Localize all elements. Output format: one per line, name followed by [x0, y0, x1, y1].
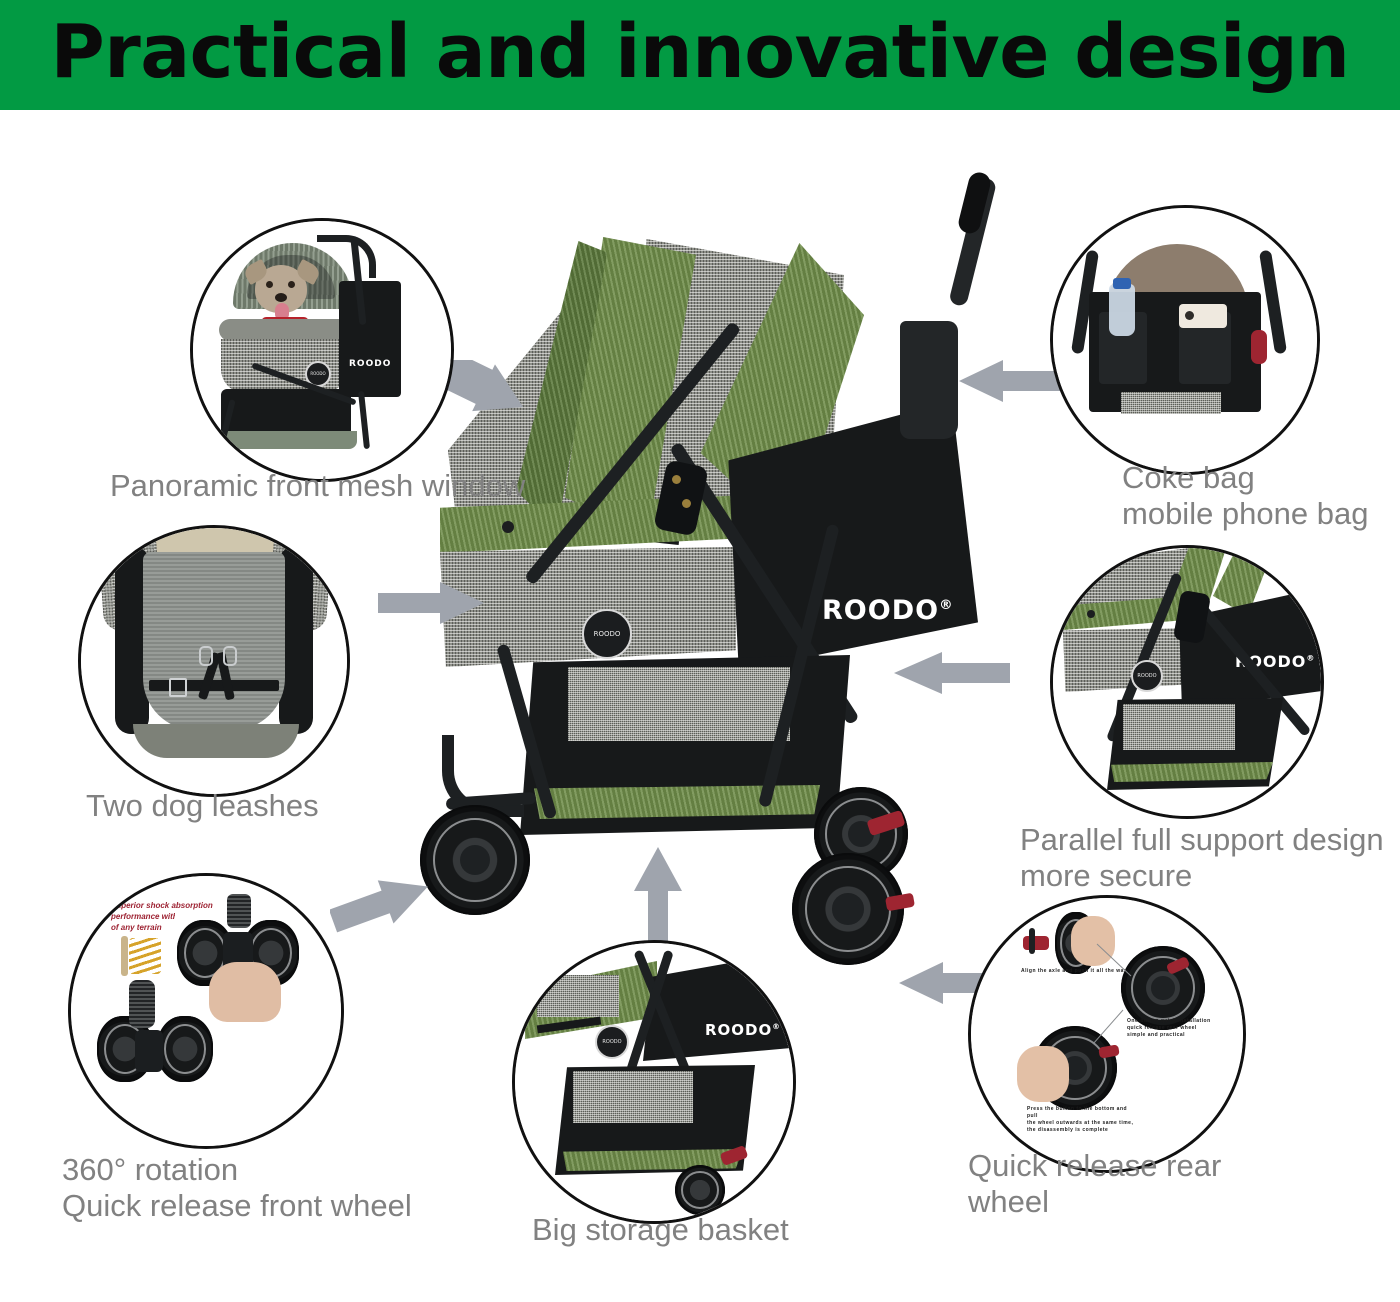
callout4-basket-green-trim	[563, 1149, 743, 1171]
callout5-bottom-mesh	[1121, 392, 1221, 414]
callout1-dog-nose	[275, 293, 287, 302]
callout-image-panoramic: ROODO ROODO	[193, 221, 451, 479]
callout3-spring-bracket	[121, 936, 128, 976]
callout-label-parallel-full-support-design: Parallel full support design more secure	[1020, 822, 1400, 894]
callout3-detached-stem	[129, 980, 155, 1028]
callout1-dog-eye-left	[266, 281, 273, 288]
brand-logo-main: ROODO®	[822, 595, 954, 626]
callout2-mat	[143, 552, 285, 730]
callout-quick-release-rear-wheel[interactable]: Align the axle and push it all the way O…	[968, 895, 1246, 1173]
arrow-to-parallel-support	[890, 650, 1010, 696]
callout4-wheel	[675, 1165, 725, 1215]
callout1-cabin-rim	[219, 319, 351, 341]
callout1-dog-eye-right	[288, 281, 295, 288]
roodo-badge-main: ROODO	[582, 609, 632, 659]
callout2-clip-a	[199, 646, 213, 666]
callout-image-front-wheel: Superior shock absorption performance wi…	[71, 876, 341, 1146]
callout5-bottle-cap	[1113, 278, 1131, 289]
callout-image-two-dog-leashes	[81, 528, 347, 794]
callout3-axle-lower	[135, 1030, 163, 1072]
callout-label-two-dog-leashes: Two dog leashes	[86, 788, 426, 824]
callout3-hand-upper	[209, 962, 281, 1022]
callout4-basket-mesh	[573, 1071, 693, 1123]
arrow-to-two-dog-leashes	[378, 580, 488, 626]
callout5-phone-camera	[1185, 311, 1194, 320]
callout6-band-snap	[1087, 610, 1095, 618]
arrow-to-storage-basket	[630, 845, 686, 955]
callout-image-rear-wheel: Align the axle and push it all the way O…	[971, 898, 1243, 1170]
callout-two-dog-leashes[interactable]	[78, 525, 350, 797]
callout3-axle-stem-upper	[227, 894, 251, 928]
callout3-wheel-lower-right	[157, 1016, 213, 1082]
callout-image-parallel-support: ROODO® ROODO	[1053, 548, 1321, 816]
callout-parallel-full-support-design[interactable]: ROODO® ROODO	[1050, 545, 1324, 819]
front-wheel	[420, 805, 530, 915]
callout-label-big-storage-basket: Big storage basket	[532, 1212, 852, 1248]
callout4-roodo-badge: ROODO	[595, 1025, 629, 1059]
callout7-connector-lines	[971, 898, 1243, 1170]
callout1-cabin-base-green	[219, 431, 357, 449]
callout-quick-release-front-wheel[interactable]: Superior shock absorption performance wi…	[68, 873, 344, 1149]
callout-image-coke-bag	[1053, 208, 1317, 472]
page-title: Practical and innovative design	[0, 0, 1400, 110]
callout-coke-bag-mobile-phone-bag[interactable]	[1050, 205, 1320, 475]
callout3-spring-icon	[129, 938, 161, 974]
callout2-buckle	[169, 678, 187, 697]
main-product-photo: ROODO® ROODO	[400, 175, 1020, 965]
callout-panoramic-front-mesh-window[interactable]: ROODO ROODO	[190, 218, 454, 482]
rear-organizer-bag	[900, 321, 958, 439]
callout-image-storage-basket: ROODO® ROODO	[515, 943, 793, 1221]
callout4-cabin-mesh	[537, 975, 619, 1017]
callout2-clip-b	[223, 646, 237, 666]
callout6-cabin-mesh-window	[1063, 628, 1187, 692]
callout5-water-bottle	[1109, 284, 1135, 336]
callout6-basket-mesh	[1123, 704, 1235, 750]
callout4-brand: ROODO®	[705, 1021, 781, 1039]
infographic-page: Practical and innovative design	[0, 0, 1400, 1302]
header-banner: Practical and innovative design	[0, 0, 1400, 110]
callout-label-quick-release-rear-wheel: Quick release rear wheel	[968, 1148, 1308, 1220]
callout-big-storage-basket[interactable]: ROODO® ROODO	[512, 940, 796, 1224]
callout5-red-hook	[1251, 330, 1267, 364]
callout-label-coke-bag-mobile-phone-bag: Coke bag mobile phone bag	[1122, 460, 1400, 532]
callout1-brand: ROODO	[349, 359, 391, 369]
joint-rivet-b	[682, 499, 691, 508]
joint-rivet-a	[672, 475, 681, 484]
callout2-base-trim	[133, 724, 299, 758]
arrow-to-coke-bag	[955, 358, 1065, 404]
callout-label-quick-release-front-wheel: 360° rotation Quick release front wheel	[62, 1152, 462, 1224]
callout6-roodo-badge: ROODO	[1131, 660, 1163, 692]
arrow-to-front-wheel	[330, 880, 435, 946]
callout1-rear-body	[339, 281, 401, 397]
storage-basket-green-trim	[534, 785, 820, 819]
storage-basket-mesh	[568, 667, 790, 741]
callout-label-panoramic-front-mesh-window: Panoramic front mesh window	[110, 468, 530, 504]
cabin-band-snap	[502, 521, 514, 533]
callout6-basket-green-trim	[1111, 762, 1273, 782]
